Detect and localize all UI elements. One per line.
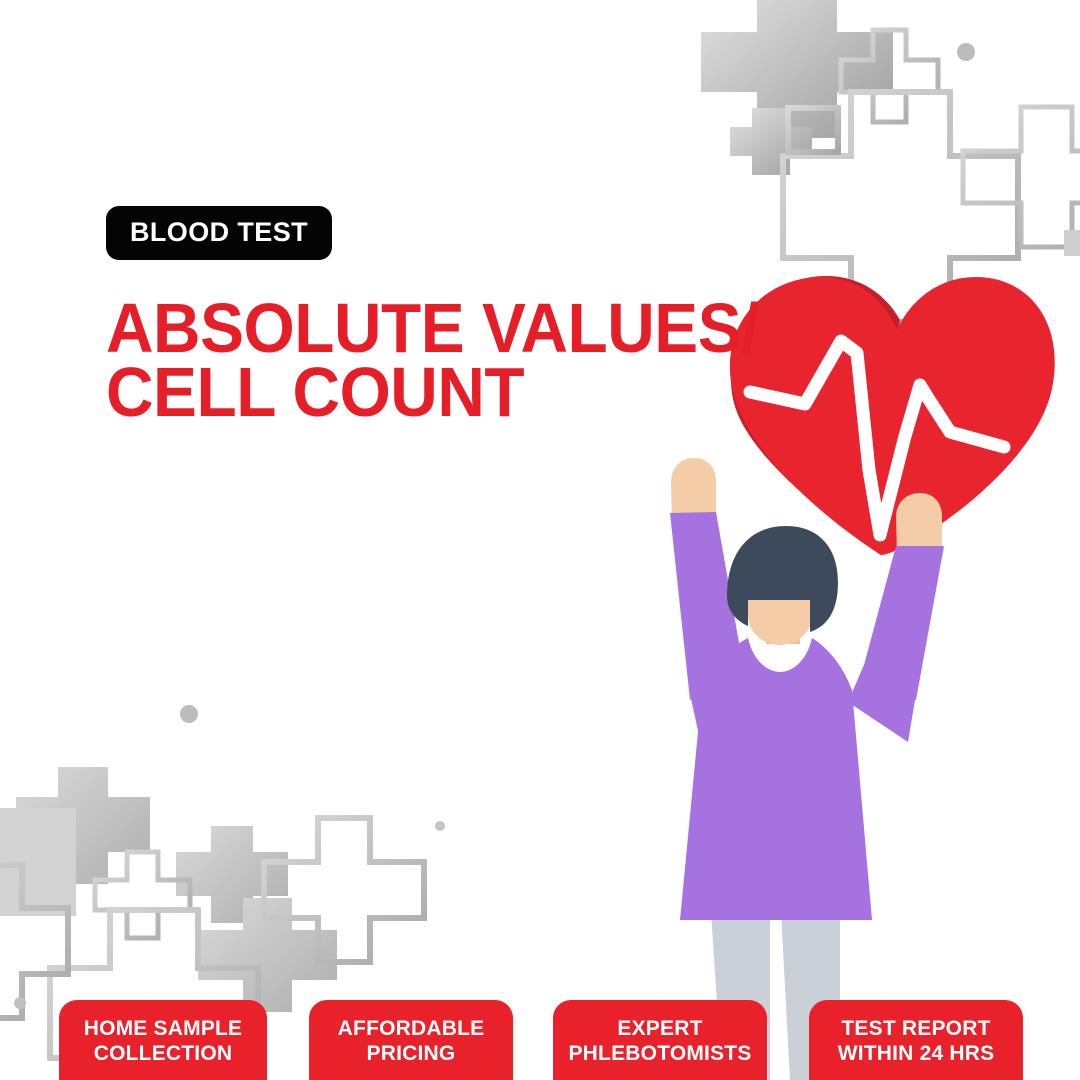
page-title: ABSOLUTE VALUES/ CELL COUNT bbox=[106, 296, 759, 425]
illustration-person-holding-heart bbox=[0, 0, 1080, 1080]
badge-expert-phlebotomists[interactable]: EXPERT PHLEBOTOMISTS bbox=[553, 1000, 767, 1080]
headline-block: BLOOD TEST ABSOLUTE VALUES/ CELL COUNT bbox=[106, 206, 801, 425]
right-fist bbox=[896, 493, 942, 554]
badge-home-sample-collection[interactable]: HOME SAMPLE COLLECTION bbox=[59, 1000, 267, 1080]
person-figure bbox=[670, 458, 944, 1080]
blood-test-badge: BLOOD TEST bbox=[106, 206, 332, 260]
badge-affordable-pricing[interactable]: AFFORDABLE PRICING bbox=[309, 1000, 513, 1080]
badge-test-report-within-24-hrs[interactable]: TEST REPORT WITHIN 24 HRS bbox=[809, 1000, 1023, 1080]
poster-canvas: BLOOD TEST ABSOLUTE VALUES/ CELL COUNT H… bbox=[0, 0, 1080, 1080]
